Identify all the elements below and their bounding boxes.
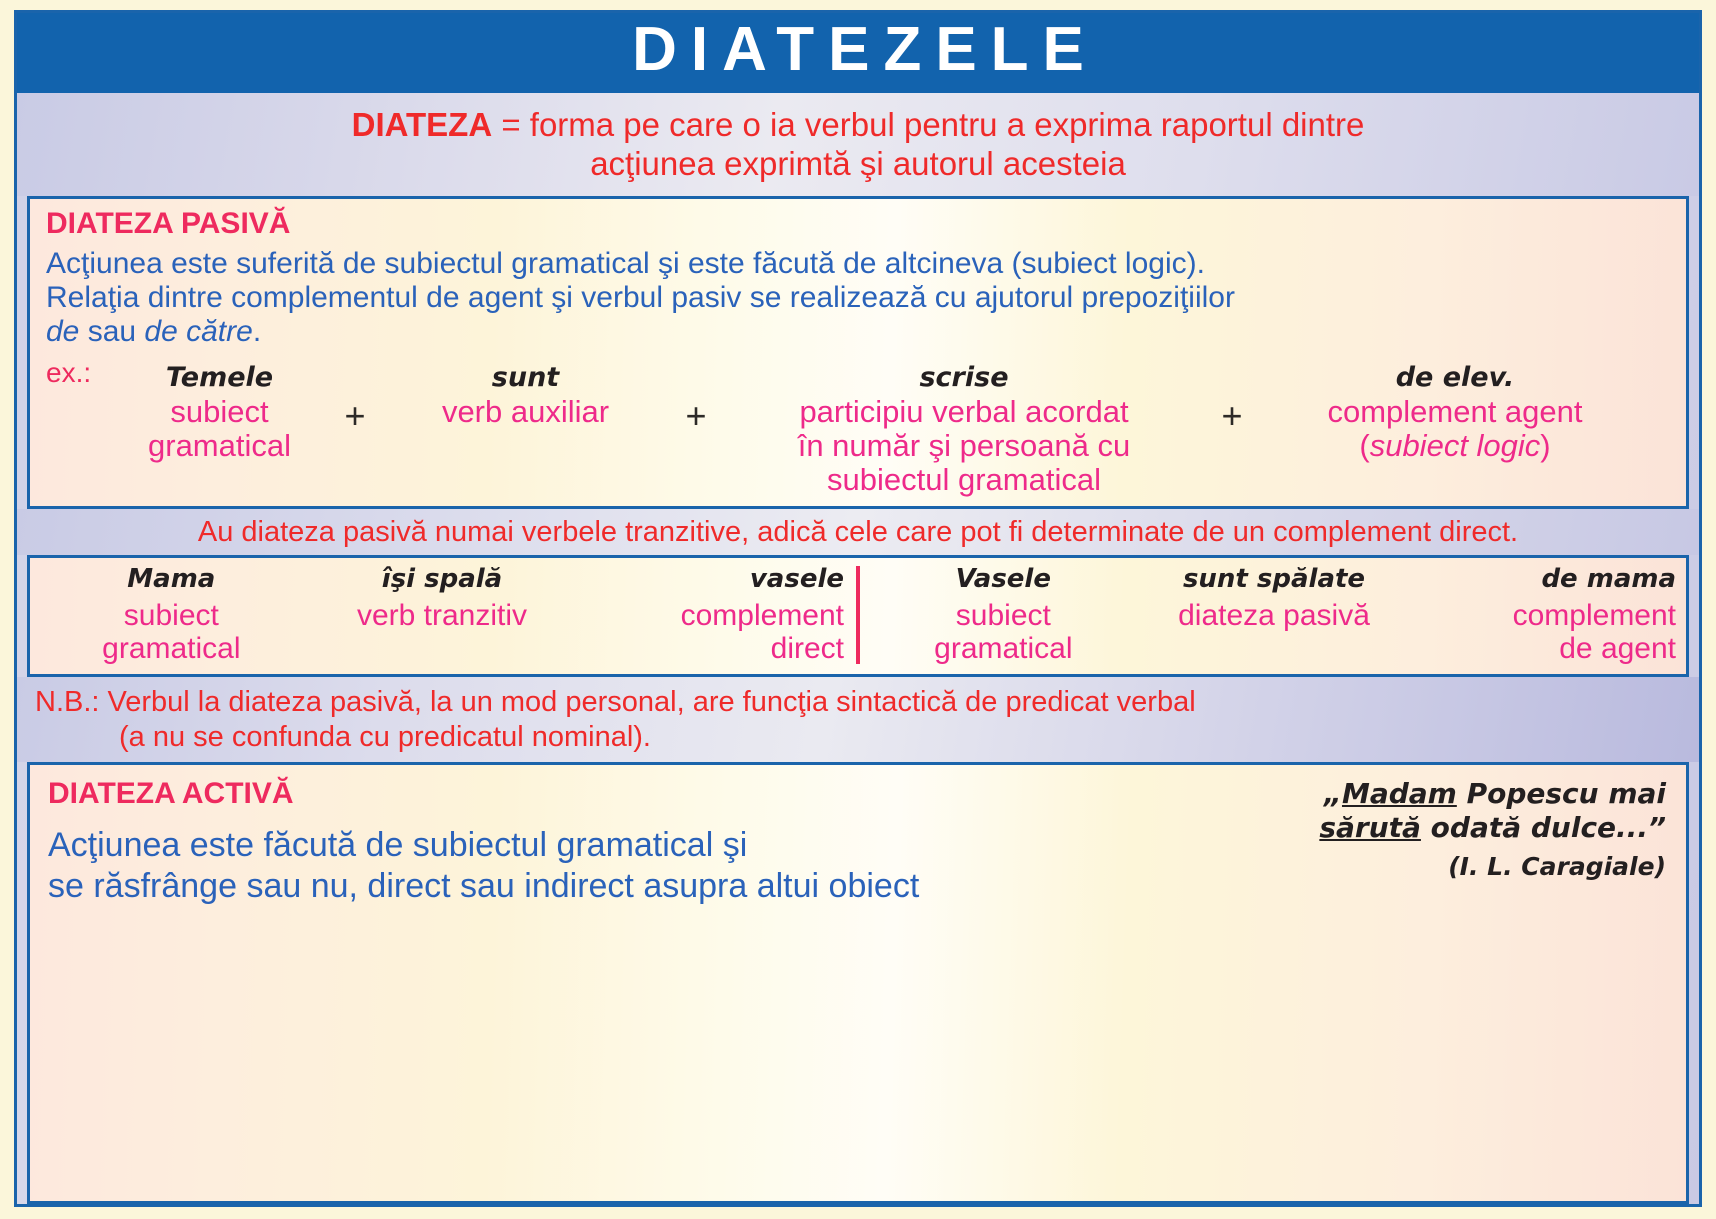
- poster-title-bar: DIATEZELE: [17, 13, 1699, 93]
- active-left-column: DIATEZA ACTIVĂ Acţiunea este făcută de s…: [44, 775, 1319, 907]
- nb-line-2: (a nu se confunda cu predicatul nominal)…: [35, 720, 1681, 755]
- table-grid: Mama subiect gramatical îşi spală verb t…: [36, 564, 1680, 666]
- formula-term-subject-line1: subiect: [112, 395, 327, 429]
- definition-line-1: DIATEZA = forma pe care o ia verbul pent…: [57, 106, 1659, 145]
- nb-line-1: N.B.: Verbul la diateza pasivă, la un mo…: [35, 685, 1681, 720]
- table-cell-vasele: vasele complement direct: [577, 564, 848, 666]
- definition-term: DIATEZA: [352, 106, 493, 143]
- poster-frame: DIATEZELE DIATEZA = forma pe care o ia v…: [14, 10, 1702, 1207]
- definition-line-2: acţiunea exprimtă şi autorul acesteia: [57, 145, 1659, 184]
- example-word-auxiliary: sunt: [383, 362, 668, 393]
- paren-close: ): [1540, 428, 1550, 463]
- passive-heading: DIATEZA PASIVĂ: [46, 207, 1674, 241]
- spacer-1: [327, 353, 383, 393]
- example-sentence-row: Temele sunt scrise de elev.: [112, 353, 1674, 393]
- active-body-line-2: se răsfrânge sau nu, direct sau indirect…: [48, 866, 1319, 907]
- quote-line-2: sărută odată dulce...”: [1319, 811, 1666, 845]
- page-title: DIATEZELE: [17, 19, 1699, 81]
- subiect-logic-italic: subiect logic: [1370, 428, 1541, 463]
- example-label: ex.:: [46, 357, 91, 389]
- plus-icon-2: +: [668, 395, 724, 435]
- formula-term-subject-line2: gramatical: [112, 429, 327, 463]
- quote-underlined-madam: Madam: [1342, 777, 1457, 810]
- prep-sau: sau: [79, 315, 144, 348]
- table-hand-vasele-subject: Vasele: [872, 564, 1135, 594]
- formula-term-auxiliary: verb auxiliar: [383, 395, 668, 429]
- active-inner: DIATEZA ACTIVĂ Acţiunea este făcută de s…: [44, 775, 1672, 1189]
- formula-term-participle-line3: subiectul gramatical: [724, 463, 1204, 497]
- spacer-3: [1204, 353, 1260, 393]
- table-label-vasele-subject-1: subiect: [872, 599, 1135, 633]
- active-body: Acţiunea este făcută de subiectul gramat…: [48, 825, 1319, 907]
- active-voice-section: DIATEZA ACTIVĂ Acţiunea este făcută de s…: [27, 762, 1689, 1204]
- table-label-de-mama-1: complement: [1413, 599, 1676, 633]
- quote-open-mark: „: [1324, 777, 1342, 810]
- prep-period: .: [253, 315, 261, 348]
- table-hand-isi-spala: îşi spală: [311, 564, 574, 594]
- table-label-de-mama-2: de agent: [1413, 632, 1676, 666]
- table-label-vasele-2: direct: [581, 632, 844, 666]
- passive-example: ex.: Temele sunt scrise de elev. subiect…: [42, 353, 1674, 497]
- plus-icon-3: +: [1204, 395, 1260, 435]
- transitive-note-band: Au diateza pasivă numai verbele tranziti…: [17, 509, 1699, 555]
- table-cell-isi-spala: îşi spală verb tranzitiv: [307, 564, 578, 666]
- formula-term-auxiliary-line1: verb auxiliar: [383, 395, 668, 429]
- example-word-subject: Temele: [112, 362, 327, 393]
- table-label-mama-2: gramatical: [40, 632, 303, 666]
- quote-underlined-saruta: sărută: [1319, 811, 1421, 844]
- caragiale-quote: „Madam Popescu mai sărută odată dulce...…: [1319, 777, 1666, 845]
- formula-term-agent-line2: (subiect logic): [1260, 429, 1650, 463]
- table-label-vasele-1: complement: [581, 599, 844, 633]
- passive-voice-section: DIATEZA PASIVĂ Acţiunea este suferită de…: [27, 196, 1689, 509]
- table-cell-vasele-subject: Vasele subiect gramatical: [868, 564, 1139, 666]
- formula-term-subject: subiect gramatical: [112, 395, 327, 463]
- nb-note-band: N.B.: Verbul la diateza pasivă, la un mo…: [17, 677, 1699, 763]
- table-cell-sunt-spalate: sunt spălate diateza pasivă: [1139, 564, 1410, 666]
- definition-text: = forma pe care o ia verbul pentru a exp…: [492, 106, 1364, 143]
- table-half-active: Mama subiect gramatical îşi spală verb t…: [36, 564, 848, 666]
- formula-term-participle-line1: participiu verbal acordat: [724, 395, 1204, 429]
- formula-term-participle-line2: în număr şi persoană cu: [724, 429, 1204, 463]
- table-label-vasele-subject-2: gramatical: [872, 632, 1135, 666]
- table-half-passive: Vasele subiect gramatical sunt spălate d…: [868, 564, 1680, 666]
- prep-de-catre: de către: [144, 315, 252, 348]
- example-word-agent: de elev.: [1260, 362, 1650, 393]
- table-cell-de-mama: de mama complement de agent: [1409, 564, 1680, 666]
- quote-line-1: „Madam Popescu mai: [1319, 777, 1666, 811]
- table-label-sunt-spalate-1: diateza pasivă: [1143, 599, 1406, 633]
- passive-body-line-1: Acţiunea este suferită de subiectul gram…: [46, 247, 1674, 281]
- plus-icon-1: +: [327, 395, 383, 435]
- example-word-participle: scrise: [724, 362, 1204, 393]
- passive-body-line-2: Relaţia dintre complementul de agent şi …: [46, 281, 1674, 315]
- formula-term-participle: participiu verbal acordat în număr şi pe…: [724, 395, 1204, 497]
- formula-term-agent-line1: complement agent: [1260, 395, 1650, 429]
- table-hand-mama: Mama: [40, 564, 303, 594]
- table-cell-mama: Mama subiect gramatical: [36, 564, 307, 666]
- passive-body: Acţiunea este suferită de subiectul gram…: [46, 247, 1674, 350]
- example-comparison-table: Mama subiect gramatical îşi spală verb t…: [27, 555, 1689, 677]
- table-hand-de-mama: de mama: [1413, 564, 1676, 594]
- table-label-mama-1: subiect: [40, 599, 303, 633]
- spacer-2: [668, 353, 724, 393]
- active-body-line-1: Acţiunea este făcută de subiectul gramat…: [48, 825, 1319, 866]
- poster-root: DIATEZELE DIATEZA = forma pe care o ia v…: [0, 0, 1716, 1219]
- active-heading: DIATEZA ACTIVĂ: [48, 777, 1319, 811]
- quote-author: (I. L. Caragiale): [1319, 852, 1666, 881]
- table-hand-vasele: vasele: [581, 564, 844, 594]
- prep-de: de: [46, 315, 79, 348]
- quote-text-1: Popescu mai: [1457, 777, 1666, 810]
- passive-body-line-3: de sau de către.: [46, 315, 1674, 349]
- active-right-column: „Madam Popescu mai sărută odată dulce...…: [1319, 775, 1672, 880]
- table-divider: [856, 566, 860, 664]
- passive-formula-row: subiect gramatical + verb auxiliar + par…: [112, 395, 1674, 497]
- quote-text-2: odată dulce...”: [1421, 811, 1666, 844]
- formula-term-agent: complement agent (subiect logic): [1260, 395, 1650, 463]
- paren-open: (: [1359, 428, 1369, 463]
- table-label-isi-spala-1: verb tranzitiv: [311, 599, 574, 633]
- table-hand-sunt-spalate: sunt spălate: [1143, 564, 1406, 594]
- definition-band: DIATEZA = forma pe care o ia verbul pent…: [17, 93, 1699, 196]
